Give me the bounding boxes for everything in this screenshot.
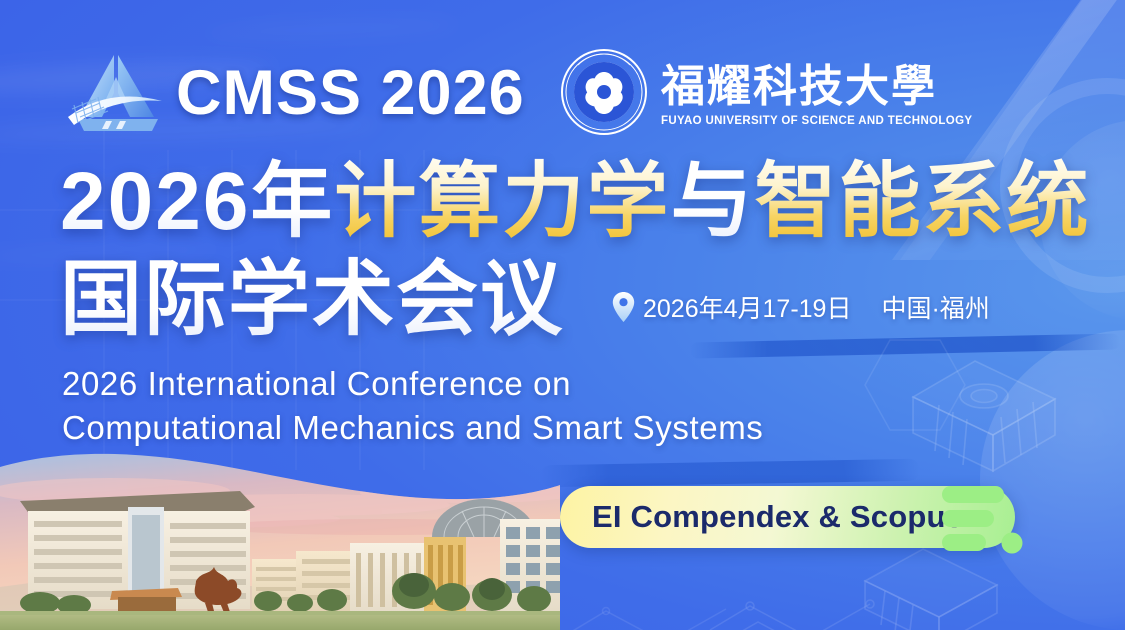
title-year: 2026年 (60, 156, 334, 247)
badge-label: EI Compendex & Scopus (592, 486, 963, 548)
hex-decor (850, 330, 980, 450)
english-title-line2: Computational Mechanics and Smart System… (62, 406, 763, 450)
fuyao-university-seal (560, 48, 648, 136)
university-name-cn: 福耀科技大學 (661, 57, 961, 113)
indexing-badge: EI Compendex & Scopus (560, 486, 1015, 548)
blue-streak-decor (540, 459, 920, 488)
campus-photo (0, 445, 560, 630)
svg-text:福耀科技大學: 福耀科技大學 (661, 61, 937, 112)
title-international-conference: 国际学术会议 (60, 254, 564, 345)
conference-meta: 2026年4月17-19日 中国·福州 (612, 289, 990, 325)
conference-date: 2026年4月17-19日 (643, 289, 851, 325)
title-computational-mechanics: 计算力学 (334, 156, 670, 247)
university-name-en: FUYAO UNIVERSITY OF SCIENCE AND TECHNOLO… (661, 115, 972, 127)
english-title: 2026 International Conference on Computa… (62, 362, 763, 450)
soft-circle-decor (980, 330, 1125, 630)
green-bars-dot-icon (942, 484, 1050, 554)
banner-header: CMSS 2026 (62, 47, 525, 139)
blue-streak-decor (690, 333, 1120, 358)
circuit-traces-decor (700, 560, 890, 630)
main-title-line2: 国际学术会议 (60, 259, 564, 341)
conference-venue: 中国·福州 (881, 289, 989, 325)
title-smart-systems: 智能系统 (754, 156, 1090, 247)
english-title-line1: 2026 International Conference on (62, 362, 763, 406)
chip-illustration-decor (845, 545, 1045, 630)
main-title-line1: 2026年计算力学与智能系统 (60, 161, 1090, 243)
cmss-delta-bridge-logo (62, 47, 170, 139)
university-lockup: 福耀科技大學 FUYAO UNIVERSITY OF SCIENCE AND T… (560, 48, 972, 136)
conference-banner: CMSS 2026 (0, 0, 1125, 630)
soft-ellipse-decor (200, 15, 460, 42)
campus-photo-image (0, 445, 560, 630)
circuit-traces-decor (560, 575, 740, 630)
location-pin-icon (612, 292, 635, 322)
university-names: 福耀科技大學 FUYAO UNIVERSITY OF SCIENCE AND T… (661, 57, 972, 127)
conference-acronym: CMSS 2026 (176, 62, 525, 125)
title-conjunction: 与 (670, 156, 754, 247)
